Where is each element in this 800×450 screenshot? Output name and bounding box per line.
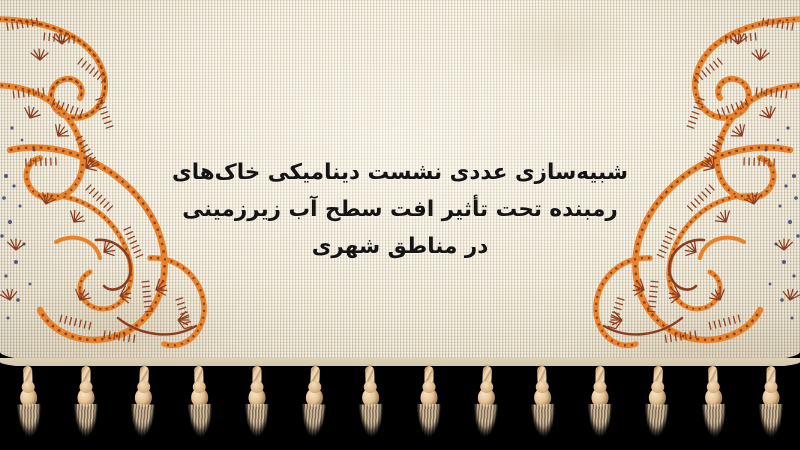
tassel-skirt — [242, 404, 272, 448]
title-line-3: در مناطق شهری — [140, 228, 660, 265]
poster-title: شبیه‌سازی عددی نشست دینامیکی خاک‌های رمب… — [140, 154, 660, 265]
tassel — [179, 365, 222, 450]
title-line-2: رمبنده تحت تأثیر افت سطح آب زیرزمینی — [140, 191, 660, 228]
tassel-skirt — [756, 404, 786, 448]
tassel-skirt — [126, 403, 158, 448]
tassel-skirt — [528, 403, 560, 448]
tassel — [580, 366, 620, 450]
tassel — [751, 366, 791, 450]
tassel — [521, 365, 564, 450]
title-line-1: شبیه‌سازی عددی نشست دینامیکی خاک‌های — [140, 154, 660, 191]
tassel — [7, 365, 50, 450]
tassel-skirt — [414, 404, 444, 448]
tassel-fringe — [0, 366, 800, 450]
tassel-skirt — [298, 403, 330, 448]
poster-canvas: شبیه‌سازی عددی نشست دینامیکی خاک‌های رمب… — [0, 0, 800, 450]
tassel — [636, 365, 679, 450]
tassel — [693, 365, 736, 450]
tassel-skirt — [356, 403, 388, 448]
tassel — [121, 365, 164, 450]
tassel-skirt — [641, 403, 673, 448]
tassel-skirt — [699, 403, 731, 448]
tassel — [464, 365, 507, 450]
tassel — [293, 365, 336, 450]
tassel-skirt — [585, 404, 615, 448]
tassel-skirt — [13, 403, 45, 448]
tassel — [66, 366, 106, 450]
tassel-skirt — [71, 404, 101, 448]
tassel-skirt — [469, 403, 501, 448]
tassel — [237, 366, 277, 450]
tassel — [350, 365, 393, 450]
tassel-skirt — [185, 403, 217, 448]
tassel — [409, 366, 449, 450]
